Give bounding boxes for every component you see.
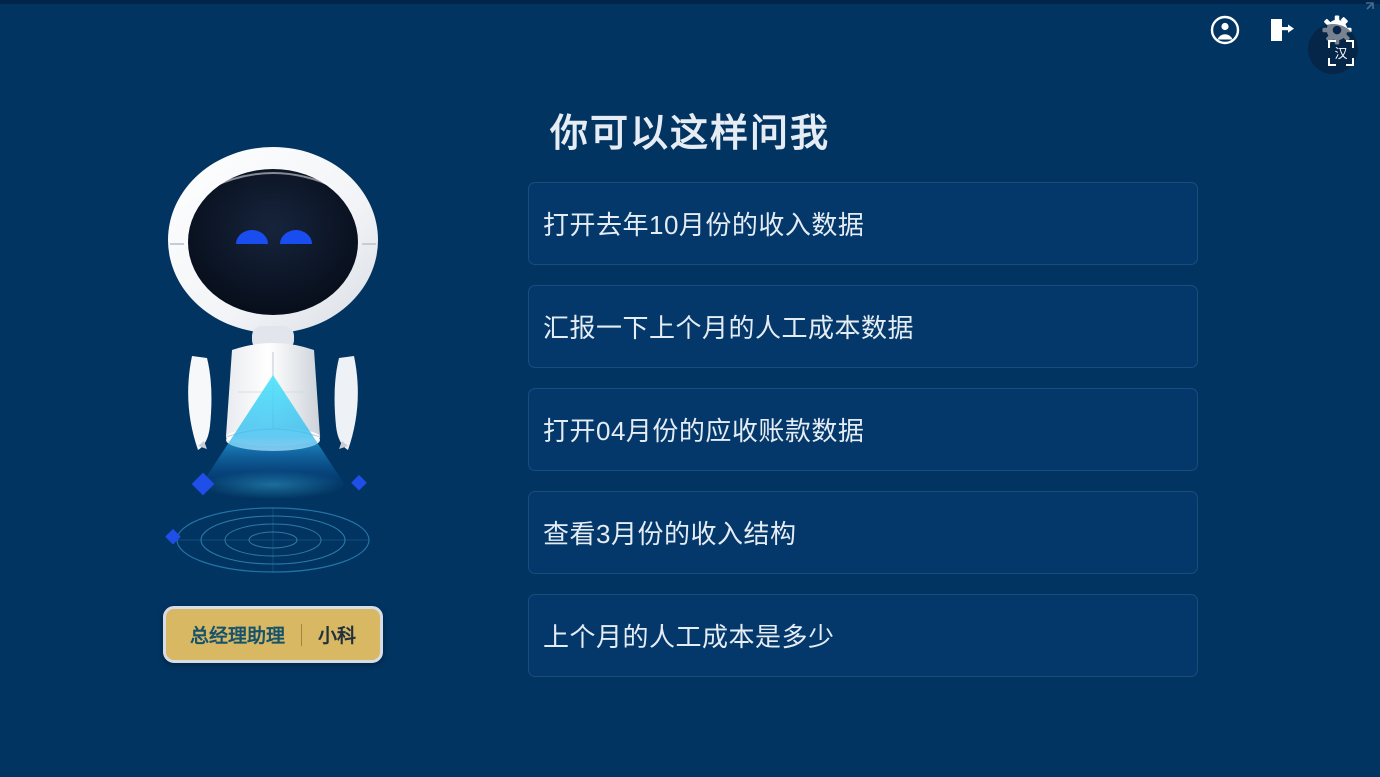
suggestion-label: 打开去年10月份的收入数据 xyxy=(543,205,864,242)
suggestion-label: 汇报一下上个月的人工成本数据 xyxy=(543,308,914,345)
badge-separator xyxy=(301,624,302,646)
ime-glyph-frame: 汉 xyxy=(1328,40,1354,66)
user-account-icon[interactable] xyxy=(1210,15,1240,45)
suggestion-label: 上个月的人工成本是多少 xyxy=(543,617,835,654)
ime-capture-icon[interactable]: 汉 xyxy=(1306,30,1358,70)
suggestion-label: 查看3月份的收入结构 xyxy=(543,514,796,551)
suggestion-card-5[interactable]: 上个月的人工成本是多少 xyxy=(528,594,1198,677)
logout-icon[interactable] xyxy=(1266,15,1296,45)
badge-content: 总经理助理 小科 xyxy=(190,621,356,648)
suggestion-card-4[interactable]: 查看3月份的收入结构 xyxy=(528,491,1198,574)
suggestion-label: 打开04月份的应收账款数据 xyxy=(543,411,864,448)
assistant-robot xyxy=(140,140,420,590)
assistant-role-badge[interactable]: 总经理助理 小科 xyxy=(163,606,383,663)
suggestion-list: 打开去年10月份的收入数据 汇报一下上个月的人工成本数据 打开04月份的应收账款… xyxy=(528,182,1198,697)
topbar xyxy=(0,4,1380,56)
suggestion-card-2[interactable]: 汇报一下上个月的人工成本数据 xyxy=(528,285,1198,368)
badge-name-label: 小科 xyxy=(318,621,356,648)
suggestion-card-1[interactable]: 打开去年10月份的收入数据 xyxy=(528,182,1198,265)
badge-role-label: 总经理助理 xyxy=(190,621,285,648)
suggestion-card-3[interactable]: 打开04月份的应收账款数据 xyxy=(528,388,1198,471)
